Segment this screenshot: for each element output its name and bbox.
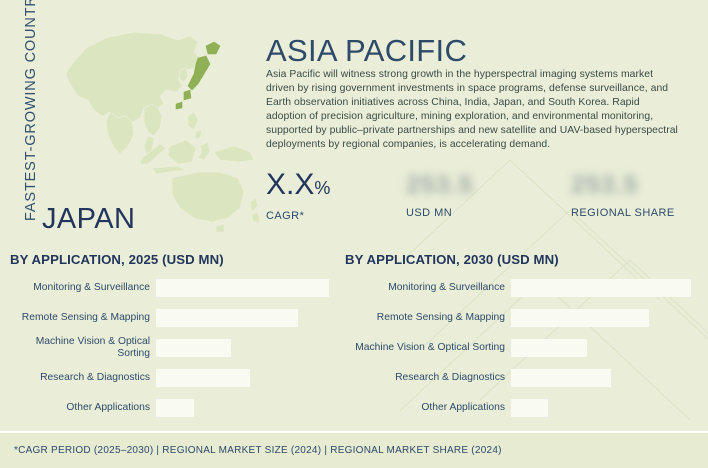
- bar-row: Research & Diagnostics: [10, 363, 340, 393]
- bar-fill: [511, 309, 649, 327]
- bar-row: Remote Sensing & Mapping: [345, 303, 700, 333]
- bar-track: [156, 393, 340, 423]
- bar-track: [511, 333, 700, 363]
- chart-2025-bars: Monitoring & Surveillance Remote Sensing…: [10, 273, 340, 423]
- bar-row: Monitoring & Surveillance: [345, 273, 700, 303]
- bar-label: Other Applications: [345, 402, 511, 414]
- bar-track: [156, 303, 340, 333]
- bar-label: Monitoring & Surveillance: [345, 282, 511, 294]
- bar-track: [511, 273, 700, 303]
- bar-fill: [156, 399, 194, 417]
- bar-row: Machine Vision & Optical Sorting: [10, 333, 340, 363]
- bar-row: Research & Diagnostics: [345, 363, 700, 393]
- regional-infographic: FASTEST-GROWING COUNTRY JAPAN ASIA PACIF…: [0, 0, 708, 468]
- stat-market-size: 253.5 USD MN: [406, 168, 474, 219]
- bar-track: [511, 303, 700, 333]
- chart-2030-title: BY APPLICATION, 2030 (USD MN): [345, 252, 700, 267]
- bar-track: [156, 363, 340, 393]
- stat-cagr-label: CAGR*: [266, 210, 330, 222]
- chart-2025-title: BY APPLICATION, 2025 (USD MN): [10, 252, 340, 267]
- chart-by-application-2025: BY APPLICATION, 2025 (USD MN) Monitoring…: [10, 252, 340, 423]
- bar-row: Machine Vision & Optical Sorting: [345, 333, 700, 363]
- footer-note: *CAGR PERIOD (2025–2030) | REGIONAL MARK…: [14, 445, 502, 456]
- bar-fill: [511, 369, 611, 387]
- stat-cagr: X.X% CAGR*: [266, 168, 330, 222]
- stat-market-size-value: 253.5: [406, 168, 474, 202]
- bar-track: [511, 363, 700, 393]
- stat-regional-share: 253.5 REGIONAL SHARE: [571, 168, 675, 219]
- bar-row: Other Applications: [10, 393, 340, 423]
- stat-cagr-value: X.X%: [266, 168, 330, 205]
- bar-label: Monitoring & Surveillance: [10, 282, 156, 294]
- bar-row: Remote Sensing & Mapping: [10, 303, 340, 333]
- bar-label: Research & Diagnostics: [345, 372, 511, 384]
- bar-track: [156, 273, 340, 303]
- bar-label: Other Applications: [10, 402, 156, 414]
- bar-fill: [511, 279, 691, 297]
- bar-fill: [156, 369, 250, 387]
- bar-label: Remote Sensing & Mapping: [345, 312, 511, 324]
- bar-label: Research & Diagnostics: [10, 372, 156, 384]
- chart-2030-bars: Monitoring & Surveillance Remote Sensing…: [345, 273, 700, 423]
- stat-regional-share-label: REGIONAL SHARE: [571, 207, 675, 219]
- region-description: Asia Pacific will witness strong growth …: [266, 68, 682, 153]
- bar-track: [156, 333, 340, 363]
- stat-regional-share-value: 253.5: [571, 168, 675, 202]
- bar-label: Remote Sensing & Mapping: [10, 312, 156, 324]
- bar-fill: [511, 339, 587, 357]
- stats-row: X.X% CAGR* 253.5 USD MN 253.5 REGIONAL S…: [266, 168, 696, 230]
- bar-label: Machine Vision & Optical Sorting: [10, 336, 156, 360]
- bar-fill: [156, 279, 329, 297]
- stat-cagr-number: X.X: [266, 168, 314, 201]
- stat-cagr-suffix: %: [314, 178, 330, 198]
- fastest-growing-country-label: FASTEST-GROWING COUNTRY: [23, 0, 39, 221]
- bar-row: Monitoring & Surveillance: [10, 273, 340, 303]
- bar-label: Machine Vision & Optical Sorting: [345, 342, 511, 354]
- page-title: ASIA PACIFIC: [266, 33, 467, 69]
- bar-fill: [156, 339, 231, 357]
- stat-market-size-label: USD MN: [406, 207, 474, 219]
- bar-fill: [156, 309, 298, 327]
- country-name: JAPAN: [42, 203, 135, 236]
- bar-track: [511, 393, 700, 423]
- chart-by-application-2030: BY APPLICATION, 2030 (USD MN) Monitoring…: [345, 252, 700, 423]
- bar-row: Other Applications: [345, 393, 700, 423]
- bar-fill: [511, 399, 548, 417]
